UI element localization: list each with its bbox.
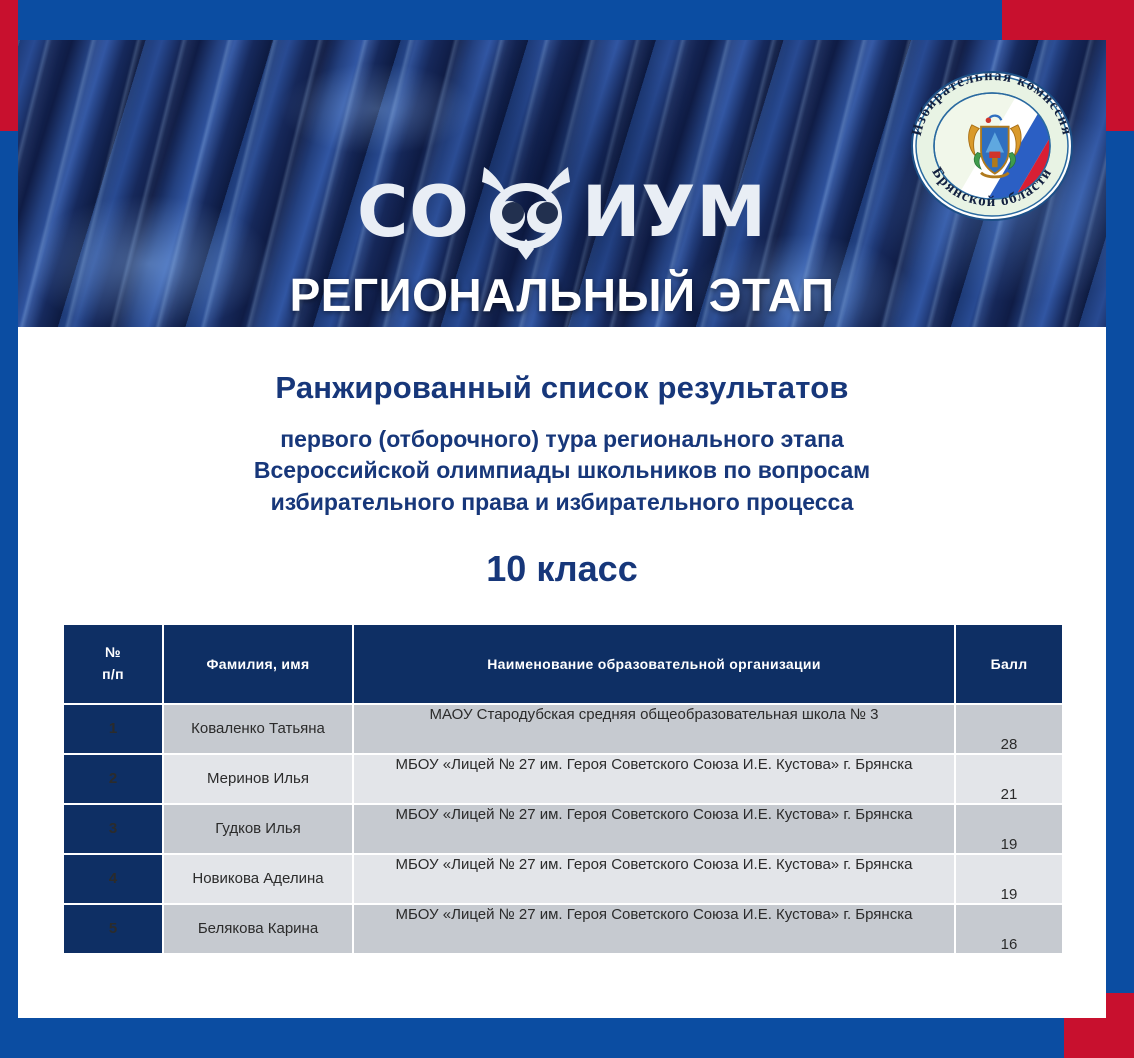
row-number: 3 [64,805,162,853]
table-row: 2 Меринов Илья МБОУ «Лицей № 27 им. Геро… [64,755,1062,803]
row-name: Меринов Илья [164,755,352,803]
results-table: № п/п Фамилия, имя Наименование образова… [62,623,1064,955]
frame-bottom-red-strip [1064,1018,1134,1058]
row-score: 19 [956,805,1062,853]
row-score: 16 [956,905,1062,953]
row-name: Белякова Карина [164,905,352,953]
frame-left-red-strip [0,0,18,131]
grade-label: 10 класс [18,548,1106,590]
column-header-number: № п/п [64,625,162,703]
election-commission-emblem: Избирательная комиссия Брянской области [900,60,1084,228]
table-header-row: № п/п Фамилия, имя Наименование образова… [64,625,1062,703]
page-card: СО ИУМ [18,40,1106,1018]
row-score: 28 [956,705,1062,753]
row-number: 4 [64,855,162,903]
row-number: 5 [64,905,162,953]
column-header-number-line2: п/п [70,664,156,686]
column-header-name: Фамилия, имя [164,625,352,703]
column-header-number-line1: № [70,642,156,664]
row-score: 19 [956,855,1062,903]
frame-top-blue-strip [18,0,1002,40]
frame-bottom-blue-strip [0,1018,1064,1058]
header-banner: СО ИУМ [18,40,1106,327]
document-body: Ранжированный список результатов первого… [18,327,1106,955]
frame-left-blue-strip [0,131,18,1058]
row-number: 2 [64,755,162,803]
row-organization: МБОУ «Лицей № 27 им. Героя Советского Со… [354,855,954,903]
row-organization: МБОУ «Лицей № 27 им. Героя Советского Со… [354,755,954,803]
subtitle-line-1: первого (отборочного) тура регионального… [138,424,986,455]
row-name: Гудков Илья [164,805,352,853]
column-header-organization: Наименование образовательной организации [354,625,954,703]
results-table-container: № п/п Фамилия, имя Наименование образова… [62,623,1062,955]
subtitle-line-3: избирательного права и избирательного пр… [138,487,986,518]
table-row: 3 Гудков Илья МБОУ «Лицей № 27 им. Героя… [64,805,1062,853]
row-name: Коваленко Татьяна [164,705,352,753]
page-subtitle: первого (отборочного) тура регионального… [18,424,1106,518]
subtitle-line-2: Всероссийской олимпиады школьников по во… [138,455,986,486]
results-table-head: № п/п Фамилия, имя Наименование образова… [64,625,1062,703]
table-row: 4 Новикова Аделина МБОУ «Лицей № 27 им. … [64,855,1062,903]
table-row: 5 Белякова Карина МБОУ «Лицей № 27 им. Г… [64,905,1062,953]
row-organization: МАОУ Стародубская средняя общеобразовате… [354,705,954,753]
row-score: 21 [956,755,1062,803]
table-row: 1 Коваленко Татьяна МАОУ Стародубская ср… [64,705,1062,753]
stage-title: РЕГИОНАЛЬНЫЙ ЭТАП [18,268,1106,322]
row-name: Новикова Аделина [164,855,352,903]
row-organization: МБОУ «Лицей № 27 им. Героя Советского Со… [354,905,954,953]
row-number: 1 [64,705,162,753]
page-title: Ранжированный список результатов [18,370,1106,406]
column-header-score: Балл [956,625,1062,703]
results-table-body: 1 Коваленко Татьяна МАОУ Стародубская ср… [64,705,1062,953]
row-organization: МБОУ «Лицей № 27 им. Героя Советского Со… [354,805,954,853]
